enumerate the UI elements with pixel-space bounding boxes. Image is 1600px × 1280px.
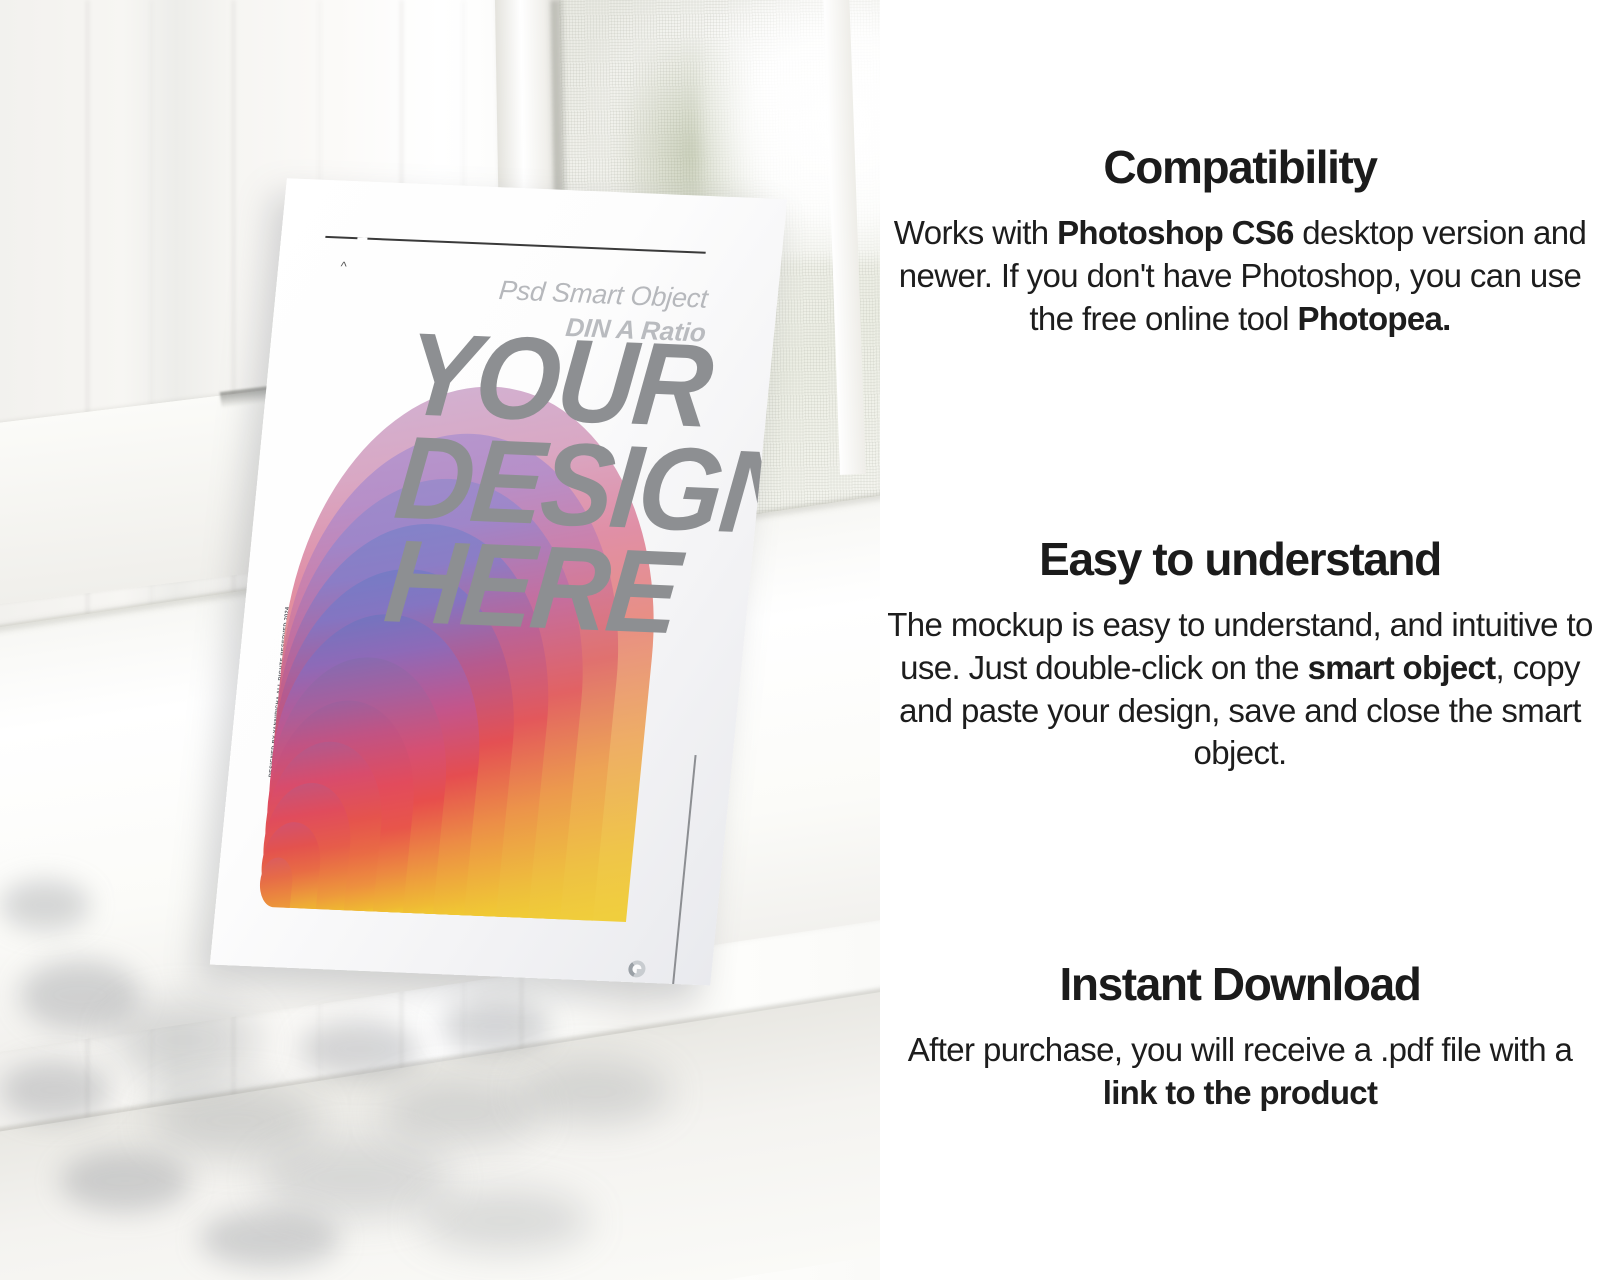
poster-top-rule-gap: [357, 237, 367, 240]
feature-block-instant-download: Instant Download After purchase, you wil…: [880, 960, 1600, 1115]
leaf-shadow: [260, 1140, 450, 1218]
quarter-circle-logo-icon: [628, 960, 647, 978]
poster-right-rule: [665, 755, 696, 985]
leaf-shadow: [300, 1020, 420, 1078]
photo-scene: ^ DESIGNED BY YANNIPICHA ALL RIGHTS RESE…: [0, 0, 880, 1280]
poster-headline: YOUR DESIGN HERE: [381, 323, 787, 649]
leaf-shadow: [110, 1000, 260, 1080]
leaf-shadow: [150, 1085, 320, 1157]
poster-mockup: ^ DESIGNED BY YANNIPICHA ALL RIGHTS RESE…: [210, 178, 787, 985]
feature-heading: Instant Download: [880, 960, 1600, 1009]
leaf-shadow: [200, 1210, 340, 1268]
feature-heading: Easy to understand: [880, 535, 1600, 584]
leaf-shadow: [520, 1060, 670, 1124]
leaf-shadow: [60, 1150, 190, 1212]
feature-copy-column: Compatibility Works with Photoshop CS6 d…: [880, 0, 1600, 1280]
feature-body: Works with Photoshop CS6 desktop version…: [880, 212, 1600, 341]
poster-caret-mark: ^: [340, 262, 352, 269]
leaf-shadow: [380, 1080, 540, 1146]
feature-block-compatibility: Compatibility Works with Photoshop CS6 d…: [880, 143, 1600, 340]
feature-block-easy-to-understand: Easy to understand The mockup is easy to…: [880, 535, 1600, 775]
leaf-shadow: [420, 1190, 590, 1252]
feature-heading: Compatibility: [880, 143, 1600, 192]
feature-body: After purchase, you will receive a .pdf …: [880, 1029, 1600, 1115]
poster-top-rule: [325, 236, 705, 254]
leaf-shadow: [0, 1060, 110, 1120]
leaf-shadow: [0, 880, 90, 930]
poster-tagline: Psd Smart Object: [497, 275, 709, 315]
leaf-shadow: [440, 1000, 550, 1054]
feature-body: The mockup is easy to understand, and in…: [880, 604, 1600, 776]
